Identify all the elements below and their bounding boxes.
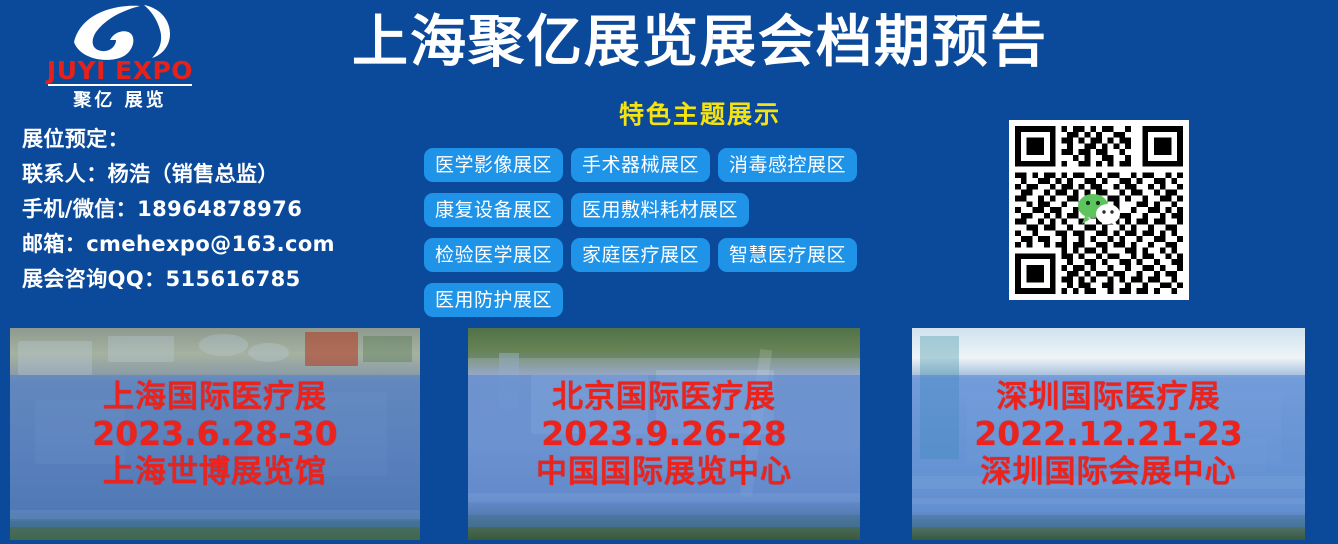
zone-tag-home-healthcare[interactable]: 家庭医疗展区 [571, 238, 710, 272]
zone-tag-list: 医学影像展区 手术器械展区 消毒感控展区 康复设备展区 医用敷料耗材展区 检验医… [424, 148, 894, 317]
event-card-shanghai[interactable]: 上海国际医疗展 2023.6.28-30 上海世博展览馆 [10, 328, 420, 540]
zone-tag-disinfection[interactable]: 消毒感控展区 [718, 148, 857, 182]
page-subtitle: 特色主题展示 [300, 95, 1100, 131]
event-caption-shenzhen: 深圳国际医疗展 2022.12.21-23 深圳国际会展中心 [912, 379, 1305, 491]
zone-tag-laboratory-medicine[interactable]: 检验医学展区 [424, 238, 563, 272]
zone-tag-surgical-instruments[interactable]: 手术器械展区 [571, 148, 710, 182]
zone-tag-medical-imaging[interactable]: 医学影像展区 [424, 148, 563, 182]
logo-english-text: JUYI EXPO [20, 56, 220, 85]
event-date-shenzhen: 2022.12.21-23 [912, 415, 1305, 454]
contact-line-qq: 展会咨询QQ：515616785 [22, 262, 402, 297]
swoosh-mark-icon [66, 2, 176, 62]
event-name-shanghai: 上海国际医疗展 [10, 379, 420, 416]
contact-line-phone: 手机/微信：18964878976 [22, 192, 402, 227]
event-name-beijing: 北京国际医疗展 [468, 379, 860, 416]
poster-root: JUYI EXPO 聚亿 展览 上海聚亿展览展会档期预告 特色主题展示 展位预定… [0, 0, 1338, 544]
event-name-shenzhen: 深圳国际医疗展 [912, 379, 1305, 416]
event-caption-beijing: 北京国际医疗展 2023.9.26-28 中国国际展览中心 [468, 379, 860, 491]
contact-line-email: 邮箱：cmehexpo@163.com [22, 227, 402, 262]
wechat-qr-panel[interactable] [1009, 120, 1189, 300]
contact-line-person: 联系人：杨浩（销售总监） [22, 157, 402, 192]
event-venue-beijing: 中国国际展览中心 [468, 454, 860, 491]
wechat-logo-icon [1076, 193, 1122, 227]
logo-chinese-text: 聚亿 展览 [20, 86, 220, 112]
zone-tag-medical-protection[interactable]: 医用防护展区 [424, 283, 563, 317]
event-caption-shanghai: 上海国际医疗展 2023.6.28-30 上海世博展览馆 [10, 379, 420, 491]
event-date-shanghai: 2023.6.28-30 [10, 415, 420, 454]
zone-tag-dressings-consumables[interactable]: 医用敷料耗材展区 [571, 193, 749, 227]
contact-line-booking: 展位预定： [22, 122, 402, 157]
event-card-beijing[interactable]: 北京国际医疗展 2023.9.26-28 中国国际展览中心 [468, 328, 860, 540]
event-card-shenzhen[interactable]: 深圳国际医疗展 2022.12.21-23 深圳国际会展中心 [912, 328, 1305, 540]
zone-tag-rehabilitation[interactable]: 康复设备展区 [424, 193, 563, 227]
zone-tag-smart-healthcare[interactable]: 智慧医疗展区 [718, 238, 857, 272]
event-card-row: 上海国际医疗展 2023.6.28-30 上海世博展览馆 [0, 328, 1338, 544]
event-date-beijing: 2023.9.26-28 [468, 415, 860, 454]
event-venue-shenzhen: 深圳国际会展中心 [912, 454, 1305, 491]
event-venue-shanghai: 上海世博展览馆 [10, 454, 420, 491]
contact-block: 展位预定： 联系人：杨浩（销售总监） 手机/微信：18964878976 邮箱：… [22, 122, 402, 297]
brand-logo[interactable]: JUYI EXPO 聚亿 展览 [20, 2, 220, 110]
page-title: 上海聚亿展览展会档期预告 [300, 14, 1100, 73]
